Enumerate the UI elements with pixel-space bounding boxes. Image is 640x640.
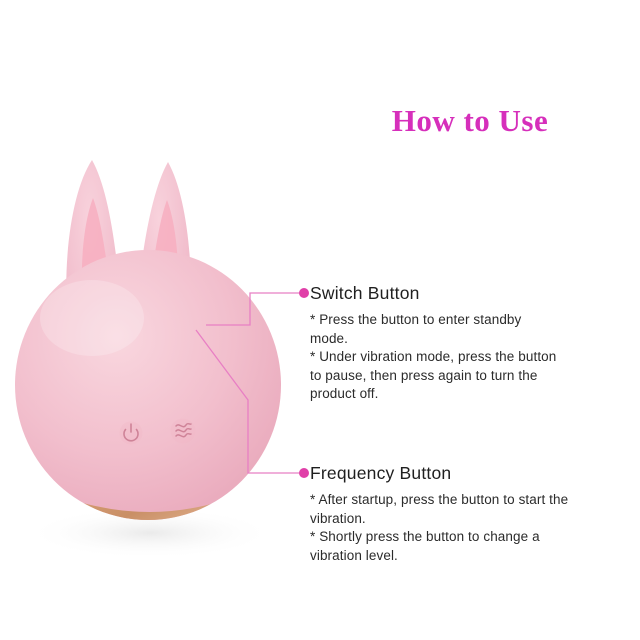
rabbit-device-svg [0, 120, 300, 600]
callout-frequency-line-4: vibration level. [310, 547, 640, 566]
callout-switch-button: Switch Button * Press the button to ente… [310, 283, 640, 404]
page-title: How to Use [320, 103, 620, 139]
callout-frequency-line-3: * Shortly press the button to change a [310, 528, 640, 547]
callout-switch-title: Switch Button [310, 283, 640, 304]
power-button[interactable] [120, 422, 143, 445]
callout-frequency-button: Frequency Button * After startup, press … [310, 463, 640, 565]
callout-switch-line-3: * Under vibration mode, press the button [310, 348, 640, 367]
body-highlight [40, 280, 144, 356]
product-illustration [0, 120, 300, 600]
page-root: How to Use [0, 0, 640, 640]
device-body [15, 250, 281, 520]
callout-frequency-line-1: * After startup, press the button to sta… [310, 491, 640, 510]
callout-switch-line-4: to pause, then press again to turn the [310, 367, 640, 386]
callout-frequency-line-2: vibration. [310, 510, 640, 529]
callout-frequency-title: Frequency Button [310, 463, 640, 484]
callout-switch-line-1: * Press the button to enter standby [310, 311, 640, 330]
callout-switch-line-5: product off. [310, 385, 640, 404]
callout-switch-line-2: mode. [310, 330, 640, 349]
frequency-button[interactable] [171, 419, 196, 444]
